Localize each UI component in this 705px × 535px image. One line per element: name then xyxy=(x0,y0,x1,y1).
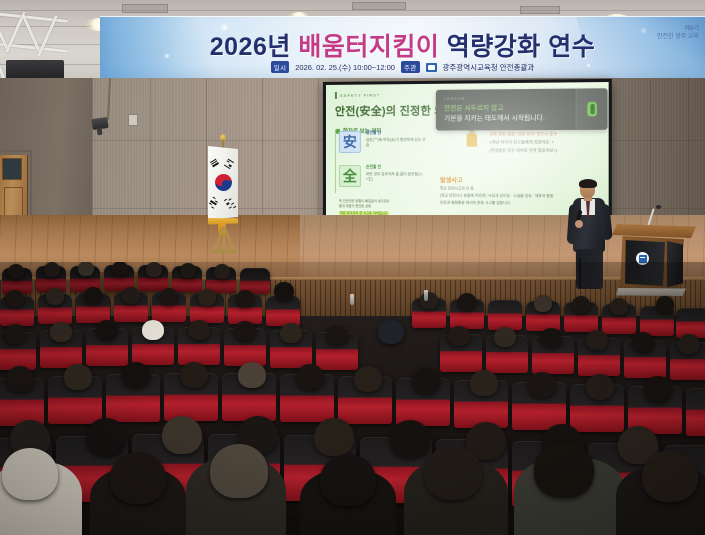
seat xyxy=(686,388,705,436)
hanja-item-jeon: 全 온전할 전 모든 것이 갖추어져 흠 없이 완전함(人+王) xyxy=(339,165,428,187)
audience-head xyxy=(4,324,26,344)
audience-head xyxy=(420,292,438,309)
banner-title-suffix: 역량강화 연수 xyxy=(447,33,595,61)
audience-head xyxy=(534,442,594,498)
hanja-char-an: 安 xyxy=(339,131,361,153)
podium-top xyxy=(612,224,696,238)
audience-head xyxy=(534,295,552,312)
hanja-desc-an: 편안할 안 집안(宀)에 여자(女)가 편안하게 있는 모습 xyxy=(366,131,428,153)
audience-head xyxy=(162,416,202,454)
audience-head xyxy=(280,323,302,343)
host-label-pill: 주관 xyxy=(401,61,420,73)
door-window xyxy=(2,158,22,180)
flag-stand-base xyxy=(212,250,236,253)
accident-heading: 발생사고 xyxy=(440,175,463,184)
audience-head xyxy=(494,327,516,347)
banner-title-year: 2026년 xyxy=(210,33,291,61)
audience-head xyxy=(320,454,376,506)
audience-head xyxy=(470,370,498,396)
audience-head xyxy=(122,287,140,304)
hanja-char-jeon: 全 xyxy=(339,165,361,187)
audience-head xyxy=(236,290,254,307)
water-bottle xyxy=(350,294,354,305)
event-banner: 2026년 배움터지킴이 역량강화 연수 일시 2026. 02. 25.(수)… xyxy=(100,16,705,80)
audience-head xyxy=(586,374,614,400)
audience-head xyxy=(46,288,64,305)
hanja-column: 安 편안할 안 집안(宀)에 여자(女)가 편안하게 있는 모습 全 온전할 전… xyxy=(339,131,428,218)
flag-cloth xyxy=(208,146,238,220)
audience-head xyxy=(84,287,102,304)
presenter-hand xyxy=(575,220,583,228)
taeguk-icon xyxy=(215,174,232,191)
water-bottle xyxy=(424,290,428,301)
audience-head xyxy=(644,376,672,402)
auditorium-photo: 2026년 배움터지킴이 역량강화 연수 일시 2026. 02. 25.(수)… xyxy=(0,0,705,535)
quote-line-1: 교육 현장 점검 "안전 의식" 반드시 준수 xyxy=(489,130,599,139)
hanja-reading-an: 편안할 안 xyxy=(366,131,428,137)
audience-head xyxy=(234,321,256,341)
audience-head xyxy=(160,288,178,305)
callout-badge xyxy=(576,88,608,130)
banner-corner-line1: 제8기 xyxy=(657,25,699,33)
hanja-note-line2: 몸과 마음이 편안한 상태 xyxy=(339,204,428,210)
trigram-geon xyxy=(210,159,219,168)
hanja-item-an: 安 편안할 안 집안(宀)에 여자(女)가 편안하게 있는 모습 xyxy=(339,131,428,153)
audience-head xyxy=(238,362,266,388)
flag-stand-leg xyxy=(223,226,225,252)
wall-switch-plate[interactable] xyxy=(128,114,138,126)
slide-right-column: 교육 현장 점검 "안전 의식" 반드시 준수 1학년 아이가 친구들에게 외쳤… xyxy=(440,128,599,129)
audience-head xyxy=(180,362,208,388)
slide-callout: LESSON 안전은 서두르지 않고 기본을 지키는 태도에서 시작됩니다. xyxy=(436,88,608,130)
trigram-gam xyxy=(210,197,219,206)
presenter-hair xyxy=(579,179,597,188)
audience-head xyxy=(210,444,268,498)
hanja-desc-jeon: 온전할 전 모든 것이 갖추어져 흠 없이 완전함(人+王) xyxy=(366,165,428,187)
callout-tag: LESSON xyxy=(444,96,567,101)
audience-head xyxy=(412,368,440,394)
audience-head xyxy=(326,325,348,345)
ceiling-vent xyxy=(122,4,168,13)
audience-head xyxy=(528,372,556,398)
hanja-meaning-an: 집안(宀)에 여자(女)가 편안하게 있는 모습 xyxy=(366,137,426,147)
slide-eyebrow-text: SAFETY FIRST xyxy=(340,92,380,97)
hanja-meaning-jeon: 모든 것이 갖추어져 흠 없이 완전함(人+王) xyxy=(366,172,423,181)
flag-stand-leg xyxy=(223,226,234,251)
audience-head xyxy=(296,364,324,390)
audience-head xyxy=(458,293,476,310)
audience-head xyxy=(642,450,698,502)
wall-speaker-icon xyxy=(91,117,108,130)
audience-head xyxy=(110,452,166,504)
audience-head xyxy=(8,264,24,279)
gooseneck-mic-head-icon xyxy=(656,205,661,209)
ceiling-vent xyxy=(352,2,406,10)
audience-head xyxy=(78,262,94,276)
audience-head xyxy=(610,298,628,315)
banner-corner-line2: 안전한 광주 교육 xyxy=(657,33,699,41)
audience-head xyxy=(198,289,216,306)
banner-corner-text: 제8기 안전한 광주 교육 xyxy=(657,25,699,41)
callout-line-2: 기본을 지키는 태도에서 시작됩니다. xyxy=(444,113,567,124)
ceiling-vent xyxy=(520,6,560,14)
audience-head xyxy=(146,262,162,277)
audience-head xyxy=(86,418,126,456)
audience-head xyxy=(572,296,590,313)
audience-head xyxy=(656,296,674,313)
audience-head xyxy=(586,330,608,350)
audience-head xyxy=(274,282,294,300)
audience-head xyxy=(214,264,230,279)
audience-head xyxy=(540,328,562,348)
hanja-reading-jeon: 온전할 전 xyxy=(366,165,428,171)
banner-subtitle: 일시 2026. 02. 25.(수) 10:00~12:00 주관 광주광역시… xyxy=(100,61,705,73)
audience-head xyxy=(378,320,404,344)
shield-icon xyxy=(587,102,597,117)
audience-head xyxy=(50,322,72,342)
audience-head xyxy=(390,420,430,458)
audience-head xyxy=(6,290,24,307)
audience-head xyxy=(188,320,210,340)
eyebrow-bar-icon xyxy=(335,92,337,99)
banner-title: 2026년 배움터지킴이 역량강화 연수 xyxy=(100,27,705,63)
audience-head xyxy=(122,362,150,388)
callout-line-1-text: 안전은 서두르지 않고 xyxy=(444,104,503,112)
quote-line-3: (학생들은 무슨 의미로 만약 말일까요?) xyxy=(489,146,599,154)
banner-date-value: 2026. 02. 25.(수) 10:00~12:00 xyxy=(295,62,395,73)
seat xyxy=(266,296,300,326)
audience-head xyxy=(142,320,164,340)
audience-head xyxy=(112,262,128,276)
date-label-pill: 일시 xyxy=(271,61,290,73)
audience-head xyxy=(44,262,60,277)
audience-head xyxy=(6,366,34,392)
audience-head xyxy=(632,332,654,352)
quote-line-2: 1학년 아이가 친구들에게 외쳤어요. ? xyxy=(489,138,599,147)
audience-head xyxy=(64,364,92,390)
trigram-ri xyxy=(225,159,234,168)
audience-head xyxy=(354,366,382,392)
person-icon xyxy=(467,128,477,148)
audience-seating xyxy=(0,262,705,535)
audience-head xyxy=(2,448,58,500)
audience-head xyxy=(448,326,470,346)
audience-head xyxy=(424,446,482,500)
korean-flag xyxy=(196,136,252,252)
audience-head xyxy=(180,263,196,278)
education-office-logo-icon xyxy=(426,63,437,72)
audience-head xyxy=(314,418,354,456)
hanja-divider xyxy=(335,131,336,193)
banner-title-program: 배움터지킴이 xyxy=(298,33,439,61)
seat xyxy=(488,300,522,330)
audience-head xyxy=(96,320,118,340)
audience-head xyxy=(678,334,700,354)
trigram-gon xyxy=(224,197,233,206)
presenter-right-arm xyxy=(598,204,613,241)
callout-text: LESSON 안전은 서두르지 않고 기본을 지키는 태도에서 시작됩니다. xyxy=(436,90,576,128)
slide-quote-block: 교육 현장 점검 "안전 의식" 반드시 준수 1학년 아이가 친구들에게 외쳤… xyxy=(489,130,599,155)
banner-host-value: 광주광역시교육청 안전총괄과 xyxy=(443,62,535,73)
